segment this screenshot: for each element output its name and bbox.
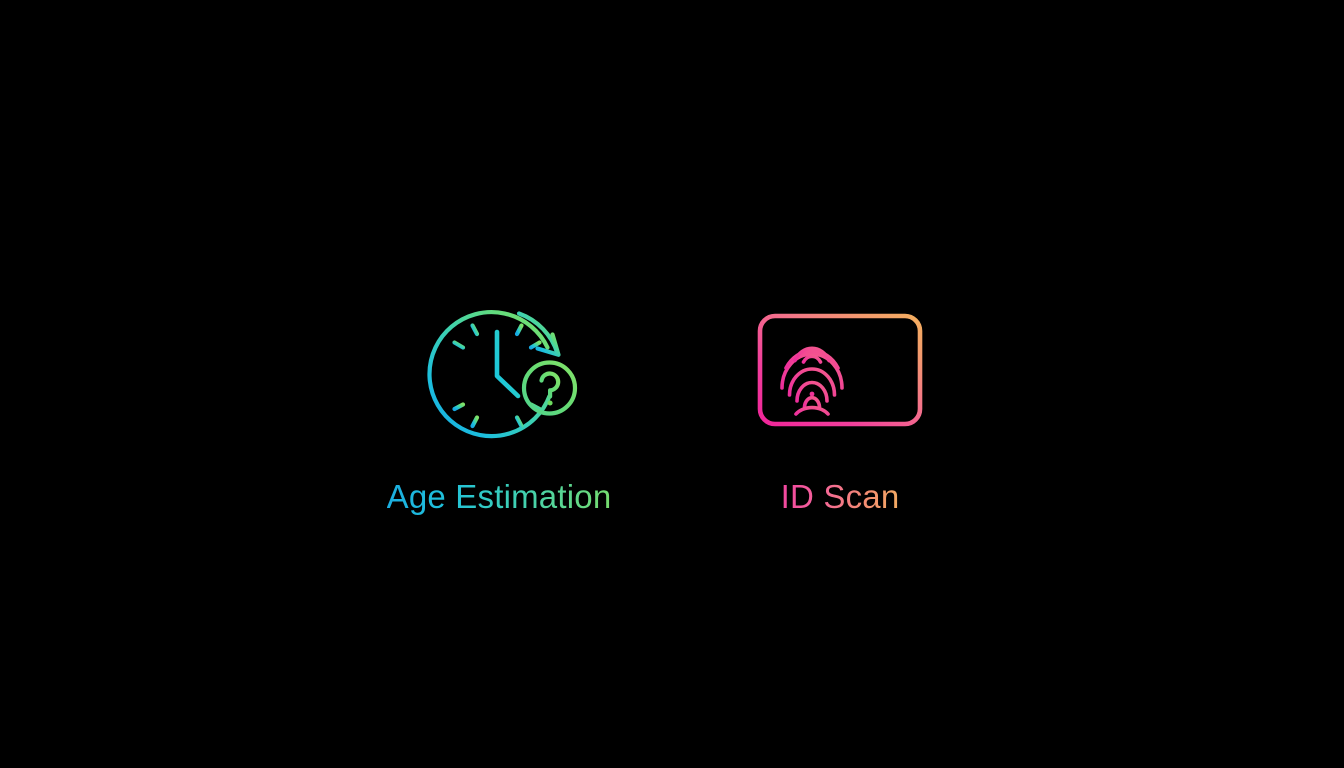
- card-text-lines: [854, 388, 904, 404]
- fingerprint-icon: [782, 348, 842, 414]
- card-outline: [760, 316, 920, 424]
- screen-root: Age Estimation: [0, 0, 1344, 768]
- option-age-estimation[interactable]: Age Estimation: [349, 300, 649, 516]
- question-mark-badge: [524, 363, 575, 414]
- option-id-scan-label: ID Scan: [781, 478, 900, 516]
- option-id-scan[interactable]: ID Scan: [690, 300, 990, 516]
- clock-hands: [497, 332, 518, 396]
- id-card-fingerprint-icon[interactable]: [750, 300, 930, 460]
- option-age-estimation-label: Age Estimation: [387, 478, 612, 516]
- clock-question-icon[interactable]: [409, 300, 589, 460]
